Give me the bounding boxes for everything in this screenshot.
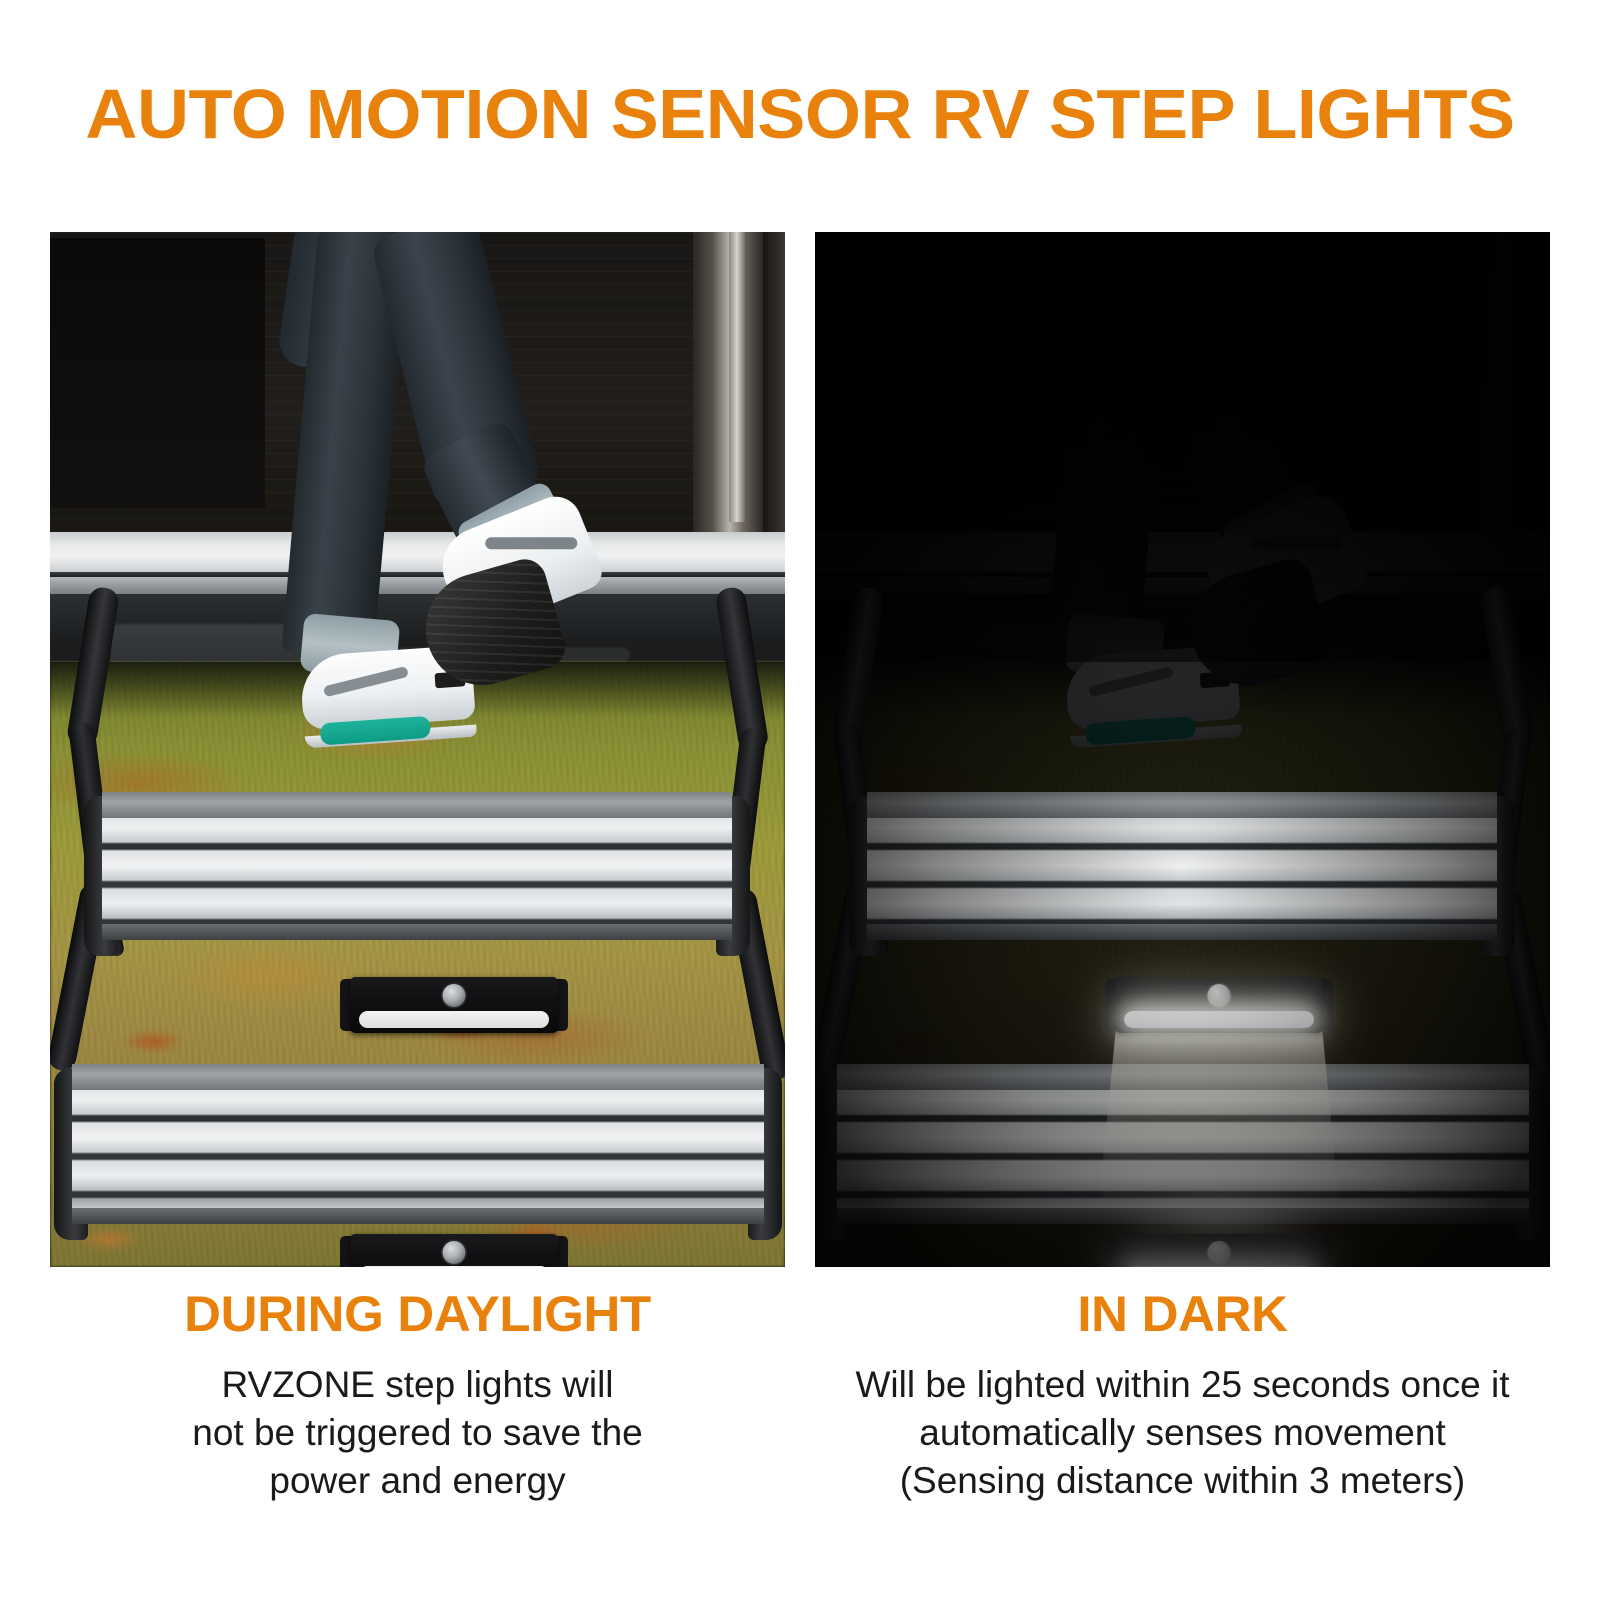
rv-step-assembly-night — [815, 232, 1550, 1267]
upper-step-tread — [102, 792, 732, 940]
upper-led-light-bar — [350, 977, 558, 1033]
caption-line: power and energy — [50, 1457, 785, 1505]
night-scene — [815, 232, 1550, 1267]
upper-motion-sensor-icon — [443, 984, 466, 1007]
marketing-infographic: AUTO MOTION SENSOR RV STEP LIGHTS — [0, 0, 1600, 1600]
left-support-arm-upper-night — [831, 586, 886, 749]
upper-step-bottom-lip-night — [867, 924, 1497, 940]
comparison-panels — [50, 232, 1550, 1267]
rv-step-assembly — [50, 232, 785, 1267]
lower-led-lens-lit — [1124, 1266, 1314, 1267]
caption-line: not be triggered to save the — [50, 1409, 785, 1457]
caption-line: RVZONE step lights will — [50, 1361, 785, 1409]
lower-led-lens — [359, 1266, 549, 1267]
daylight-scene — [50, 232, 785, 1267]
upper-step-ribbed-face — [102, 818, 732, 940]
caption-during-daylight: DURING DAYLIGHT RVZONE step lights will … — [50, 1285, 785, 1505]
lower-motion-sensor-icon — [443, 1241, 466, 1264]
caption-in-dark: IN DARK Will be lighted within 25 second… — [815, 1285, 1550, 1505]
lower-step-bottom-lip — [72, 1208, 764, 1224]
upper-step-ribbed-face-night — [867, 818, 1497, 940]
caption-line: (Sensing distance within 3 meters) — [815, 1457, 1550, 1505]
caption-line: automatically senses movement — [815, 1409, 1550, 1457]
caption-line: Will be lighted within 25 seconds once i… — [815, 1361, 1550, 1409]
photo-panel-during-daylight — [50, 232, 785, 1267]
caption-body-dark: Will be lighted within 25 seconds once i… — [815, 1361, 1550, 1505]
upper-led-lens — [359, 1011, 549, 1028]
right-support-arm-upper — [714, 586, 769, 754]
upper-step-top-surface-night — [867, 792, 1497, 818]
upper-motion-sensor-icon-night — [1208, 984, 1231, 1007]
lower-step-tread — [72, 1064, 764, 1224]
photo-panel-in-dark — [815, 232, 1550, 1267]
lower-motion-sensor-icon-night — [1208, 1241, 1231, 1264]
caption-body-daylight: RVZONE step lights will not be triggered… — [50, 1361, 785, 1505]
upper-led-light-bar-lit — [1115, 977, 1323, 1033]
lower-step-top-surface — [72, 1064, 764, 1090]
lower-led-light-bar-lit — [1115, 1234, 1323, 1267]
caption-heading-daylight: DURING DAYLIGHT — [43, 1285, 793, 1343]
page-title: AUTO MOTION SENSOR RV STEP LIGHTS — [0, 78, 1600, 150]
left-support-arm-upper — [66, 586, 121, 749]
lower-step-ribbed-face — [72, 1090, 764, 1224]
upper-step-bottom-lip — [102, 924, 732, 940]
right-support-arm-upper-night — [1479, 586, 1534, 754]
upper-step-tread-night — [867, 792, 1497, 940]
caption-heading-dark: IN DARK — [808, 1285, 1558, 1343]
upper-step-top-surface — [102, 792, 732, 818]
lower-led-light-bar — [350, 1234, 558, 1267]
upper-led-lens-lit — [1124, 1011, 1314, 1028]
